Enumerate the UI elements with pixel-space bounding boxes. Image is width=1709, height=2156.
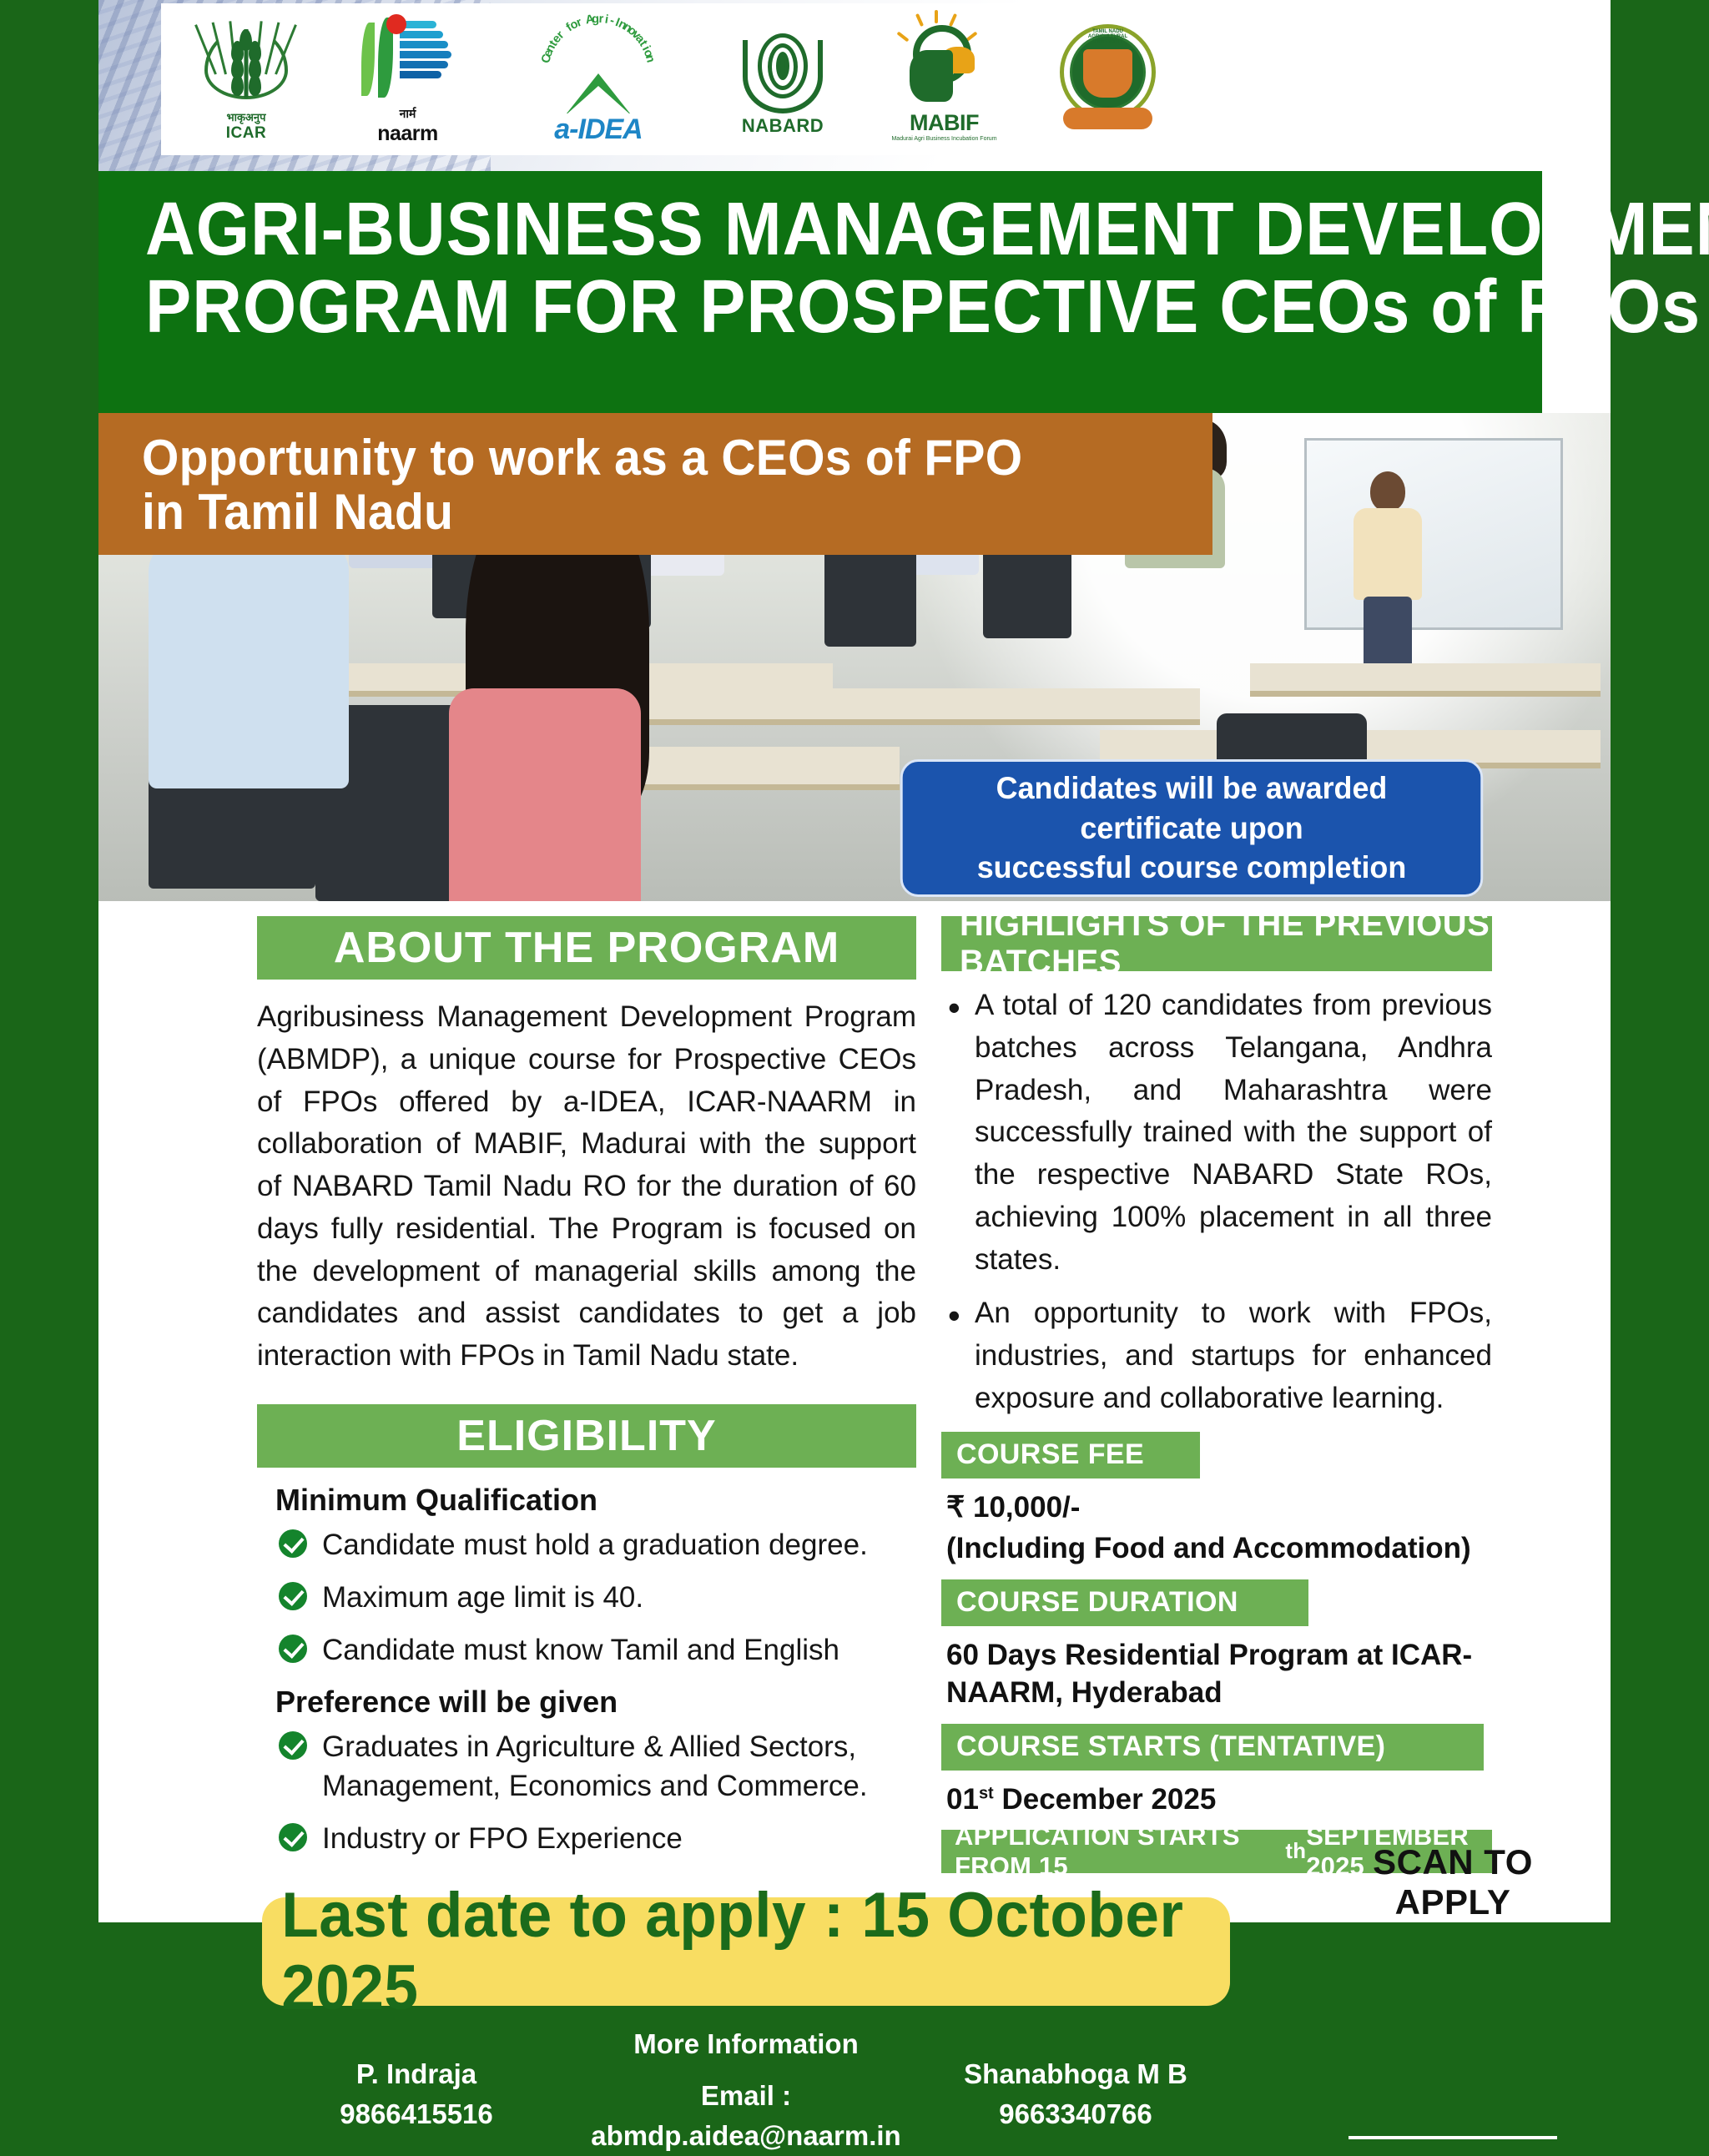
eligibility-heading: ELIGIBILITY bbox=[257, 1404, 916, 1468]
about-body: Agribusiness Management Development Prog… bbox=[257, 996, 916, 1378]
certificate-badge-line1: Candidates will be awarded bbox=[996, 768, 1388, 808]
aidea-chevron-icon bbox=[536, 70, 661, 113]
more-information-label: More Information bbox=[554, 2024, 938, 2064]
mabif-sublabel: Madurai Agri Business Incubation Forum bbox=[891, 136, 996, 142]
course-starts-month-year: December 2025 bbox=[994, 1783, 1217, 1816]
list-item: An opportunity to work with FPOs, indust… bbox=[941, 1292, 1492, 1419]
contact-right: Shanabhoga M B 9663340766 bbox=[938, 2054, 1213, 2134]
last-date-banner: Last date to apply : 15 October 2025 bbox=[262, 1897, 1230, 2006]
course-starts-date: 01st December 2025 bbox=[946, 1781, 1492, 1819]
check-icon bbox=[279, 1823, 307, 1851]
check-icon bbox=[279, 1529, 307, 1558]
preference-label: Preference will be given bbox=[275, 1685, 916, 1720]
min-qualification-list: Candidate must hold a graduation degree.… bbox=[275, 1526, 916, 1670]
icar-emblem-icon bbox=[199, 16, 293, 109]
course-duration-value: 60 Days Residential Program at ICAR-NAAR… bbox=[946, 1636, 1492, 1712]
subtitle-bar: Opportunity to work as a CEOs of FPO in … bbox=[98, 413, 1212, 555]
course-fee-heading: COURSE FEE bbox=[941, 1432, 1200, 1478]
certificate-badge-line2: certificate upon bbox=[1080, 808, 1303, 848]
contacts-row: P. Indraja 9866415516 More Information E… bbox=[262, 2019, 1230, 2128]
subtitle-line2: in Tamil Nadu bbox=[142, 486, 1159, 540]
course-fee-amount: ₹ 10,000/- bbox=[946, 1489, 1492, 1527]
aidea-tagline-arc: Center for Agri-Innovation bbox=[511, 13, 686, 72]
right-column: HIGHLIGHTS OF THE PREVIOUS BATCHES A tot… bbox=[941, 916, 1492, 1873]
list-item-label: Candidate must know Tamil and English bbox=[322, 1634, 839, 1666]
naarm-hindi-text: नार्म bbox=[400, 106, 416, 122]
icar-hindi-text: भाकृअनुप bbox=[226, 109, 265, 124]
list-item-label: Candidate must hold a graduation degree. bbox=[322, 1529, 868, 1561]
preference-list: Graduates in Agriculture & Allied Sector… bbox=[275, 1728, 916, 1859]
aidea-logo: Center for Agri-Innovation a-IDEA bbox=[502, 13, 694, 146]
tnau-seal-icon: TAMIL NADU AGRICULTURAL UNIVERSITY bbox=[1051, 21, 1164, 138]
list-item: Graduates in Agriculture & Allied Sector… bbox=[275, 1728, 916, 1806]
course-starts-day: 01 bbox=[946, 1783, 979, 1816]
naarm-logo: नार्म naarm bbox=[335, 13, 481, 146]
application-starts-ordinal: th bbox=[1285, 1840, 1306, 1864]
contact-left: P. Indraja 9866415516 bbox=[279, 2054, 554, 2134]
icar-label: ICAR bbox=[226, 124, 266, 143]
certificate-badge-line3: successful course completion bbox=[977, 848, 1407, 887]
course-fee-note: (Including Food and Accommodation) bbox=[946, 1529, 1492, 1568]
list-item: Candidate must hold a graduation degree. bbox=[275, 1526, 916, 1565]
course-starts-heading: COURSE STARTS (TENTATIVE) bbox=[941, 1724, 1484, 1771]
about-heading: ABOUT THE PROGRAM bbox=[257, 916, 916, 980]
list-item: Maximum age limit is 40. bbox=[275, 1579, 916, 1618]
mabif-logo: MABIF Madurai Agri Business Incubation F… bbox=[871, 13, 1017, 146]
logo-row: भाकृअनुप ICAR नार् bbox=[161, 3, 1438, 155]
poster-canvas: भाकृअनुप ICAR नार् bbox=[98, 0, 1611, 2136]
logo-strip: भाकृअनुप ICAR नार् bbox=[98, 0, 1611, 171]
last-date-text: Last date to apply : 15 October 2025 bbox=[281, 1879, 1211, 2024]
nabard-emblem-icon bbox=[736, 22, 829, 115]
attendee-foreground-dress bbox=[449, 688, 641, 901]
highlights-list: A total of 120 candidates from previous … bbox=[941, 985, 1492, 1420]
highlights-heading: HIGHLIGHTS OF THE PREVIOUS BATCHES bbox=[941, 916, 1492, 971]
naarm-label: naarm bbox=[377, 122, 438, 146]
icar-logo: भाकृअनुप ICAR bbox=[179, 13, 313, 146]
scan-to-apply-label: SCAN TO APPLY bbox=[1315, 1842, 1591, 1922]
list-item: Candidate must know Tamil and English bbox=[275, 1631, 916, 1670]
contact-left-phone: 9866415516 bbox=[279, 2094, 554, 2134]
min-qualification-label: Minimum Qualification bbox=[275, 1483, 916, 1518]
course-duration-heading: COURSE DURATION bbox=[941, 1579, 1308, 1626]
mabif-label: MABIF bbox=[910, 110, 979, 136]
course-starts-ordinal: st bbox=[979, 1784, 994, 1802]
contact-right-name: Shanabhoga M B bbox=[938, 2054, 1213, 2094]
nabard-label: NABARD bbox=[742, 115, 824, 137]
list-item-label: Industry or FPO Experience bbox=[322, 1822, 683, 1855]
mabif-emblem-icon bbox=[888, 17, 1001, 110]
desk bbox=[1250, 663, 1601, 697]
aidea-label: a-IDEA bbox=[554, 113, 642, 146]
classroom-photo: Opportunity to work as a CEOs of FPO in … bbox=[98, 413, 1611, 901]
desk bbox=[566, 688, 1200, 725]
list-item: A total of 120 candidates from previous … bbox=[941, 985, 1492, 1281]
left-column: ABOUT THE PROGRAM Agribusiness Managemen… bbox=[257, 916, 916, 1872]
check-icon bbox=[279, 1635, 307, 1663]
contact-right-phone: 9663340766 bbox=[938, 2094, 1213, 2134]
check-icon bbox=[279, 1731, 307, 1760]
check-icon bbox=[279, 1582, 307, 1610]
attendee-foreground-torso bbox=[149, 538, 349, 788]
nabard-logo: NABARD bbox=[716, 13, 849, 146]
content-area: ABOUT THE PROGRAM Agribusiness Managemen… bbox=[98, 901, 1611, 1865]
application-starts-prefix: APPLICATION STARTS FROM 15 bbox=[955, 1821, 1285, 1881]
tnau-seal-text: TAMIL NADU AGRICULTURAL UNIVERSITY bbox=[1073, 29, 1142, 44]
naarm-emblem-icon bbox=[358, 13, 458, 106]
subtitle-line1: Opportunity to work as a CEOs of FPO bbox=[142, 431, 1159, 486]
projection-screen bbox=[1304, 438, 1563, 630]
list-item: Industry or FPO Experience bbox=[275, 1820, 916, 1859]
list-item-label: Maximum age limit is 40. bbox=[322, 1581, 643, 1614]
main-title-bar: AGRI-BUSINESS MANAGEMENT DEVELOPMENT PRO… bbox=[98, 171, 1542, 413]
aidea-tagline-text: Center for Agri-Innovation bbox=[511, 13, 686, 72]
tnau-logo: TAMIL NADU AGRICULTURAL UNIVERSITY bbox=[1039, 13, 1177, 146]
page-title-line1: AGRI-BUSINESS MANAGEMENT DEVELOPMENT bbox=[145, 191, 1430, 269]
list-item-label: Graduates in Agriculture & Allied Sector… bbox=[322, 1730, 868, 1802]
contact-left-name: P. Indraja bbox=[279, 2054, 554, 2094]
page-title-line2: PROGRAM FOR PROSPECTIVE CEOs of FPOs bbox=[145, 269, 1430, 346]
certificate-badge: Candidates will be awarded certificate u… bbox=[900, 759, 1483, 897]
email-text[interactable]: Email : abmdp.aidea@naarm.in bbox=[554, 2076, 938, 2156]
